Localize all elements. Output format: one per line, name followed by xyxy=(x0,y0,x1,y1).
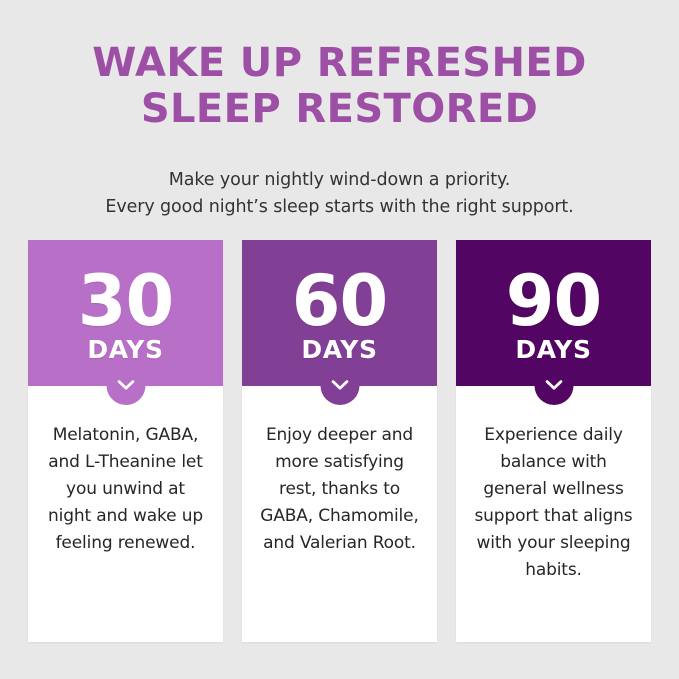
subheadline-block: Make your nightly wind-down a priority. … xyxy=(0,167,679,221)
chevron-down-badge[interactable] xyxy=(320,366,359,405)
chevron-down-badge[interactable] xyxy=(534,366,573,405)
card-number: 60 xyxy=(292,267,387,335)
subheadline-line-2: Every good night’s sleep starts with the… xyxy=(0,194,679,221)
card-body: Experience daily balance with general we… xyxy=(456,386,651,642)
card-number: 30 xyxy=(78,267,173,335)
card-banner: 60 DAYS xyxy=(242,240,437,386)
card-body: Enjoy deeper and more satisfying rest, t… xyxy=(242,386,437,642)
headline-block: WAKE UP REFRESHED SLEEP RESTORED xyxy=(0,40,679,132)
chevron-down-icon xyxy=(545,380,562,391)
headline-line-1: WAKE UP REFRESHED xyxy=(0,40,679,86)
card-description: Enjoy deeper and more satisfying rest, t… xyxy=(256,422,423,557)
card-30-days: 30 DAYS Melatonin, GABA, and L-Theanine … xyxy=(28,240,223,642)
card-banner: 30 DAYS xyxy=(28,240,223,386)
headline-line-2: SLEEP RESTORED xyxy=(0,86,679,132)
subheadline-line-1: Make your nightly wind-down a priority. xyxy=(0,167,679,194)
card-body: Melatonin, GABA, and L-Theanine let you … xyxy=(28,386,223,642)
card-unit-label: DAYS xyxy=(301,336,377,364)
card-unit-label: DAYS xyxy=(87,336,163,364)
card-description: Melatonin, GABA, and L-Theanine let you … xyxy=(42,422,209,557)
card-90-days: 90 DAYS Experience daily balance with ge… xyxy=(456,240,651,642)
chevron-down-badge[interactable] xyxy=(106,366,145,405)
card-banner: 90 DAYS xyxy=(456,240,651,386)
infographic-root: WAKE UP REFRESHED SLEEP RESTORED Make yo… xyxy=(0,0,679,679)
card-number: 90 xyxy=(506,267,601,335)
chevron-down-icon xyxy=(117,380,134,391)
page-title: WAKE UP REFRESHED SLEEP RESTORED xyxy=(0,40,679,132)
card-60-days: 60 DAYS Enjoy deeper and more satisfying… xyxy=(242,240,437,642)
card-description: Experience daily balance with general we… xyxy=(470,422,637,584)
cards-row: 30 DAYS Melatonin, GABA, and L-Theanine … xyxy=(28,240,651,642)
chevron-down-icon xyxy=(331,380,348,391)
card-unit-label: DAYS xyxy=(515,336,591,364)
